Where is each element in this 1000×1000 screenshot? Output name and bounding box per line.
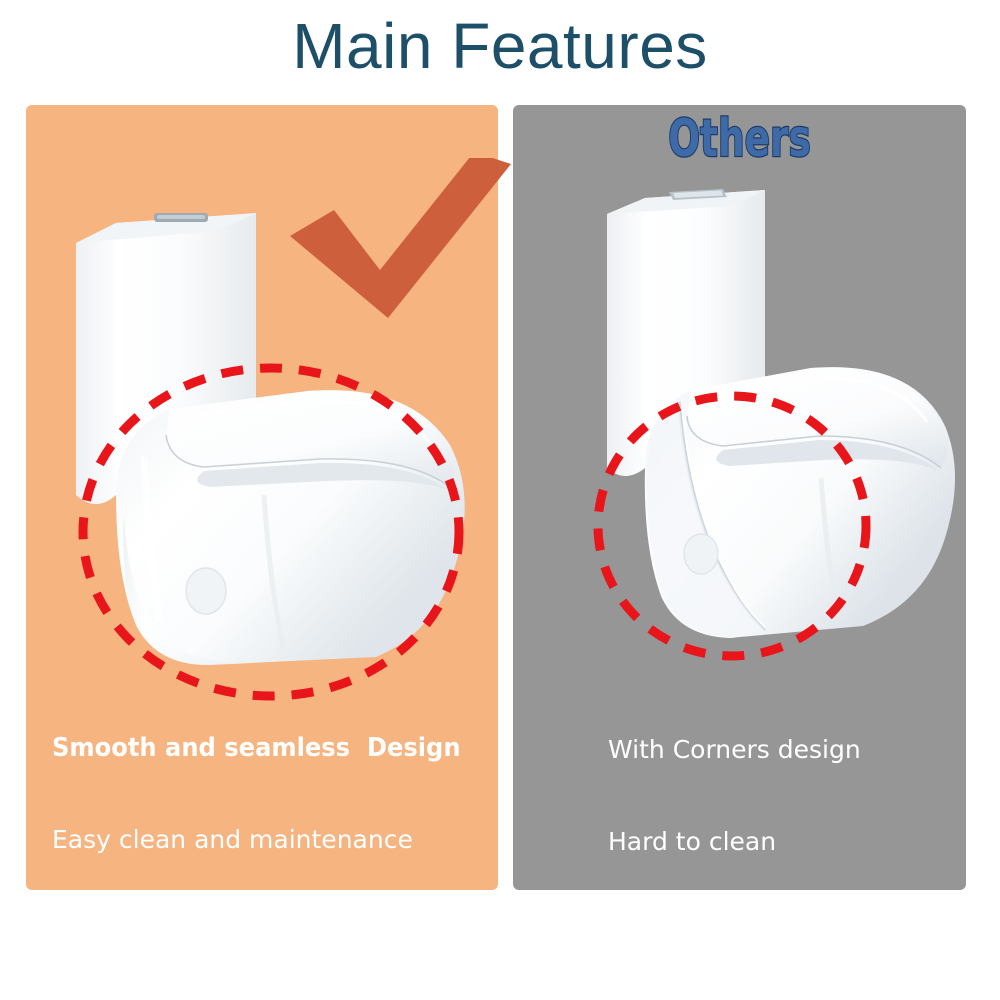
page-title: Main Features [0,8,1000,84]
feature-list-pros: Smooth and seamless Design Easy clean an… [52,698,492,964]
highlight-circle-pros [76,362,466,702]
feature-list-others: With Corners design Hard to clean [608,700,968,874]
others-heading: Others [576,108,902,170]
feature-item: Easy clean and maintenance [52,826,492,854]
feature-item: Hard to clean [608,828,968,856]
feature-item: Smooth and seamless Design [52,734,461,762]
highlight-circle-others [592,390,872,662]
feature-item: More hygienic [52,918,492,946]
feature-item: With Corners design [608,736,968,764]
